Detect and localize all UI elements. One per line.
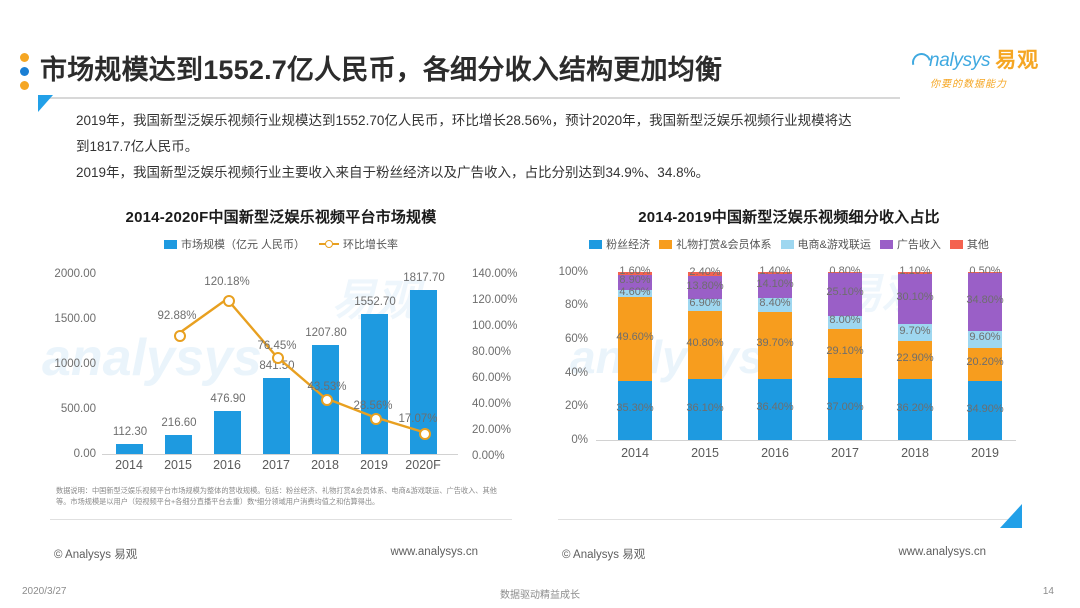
segment-ecommerce-2017: 8.00% bbox=[828, 316, 862, 329]
ry-tick-40: 40% bbox=[540, 367, 588, 379]
growth-rate-line bbox=[32, 260, 530, 474]
segment-label-advertising-2017: 25.10% bbox=[826, 286, 863, 298]
intro-line-1: 2019年，我国新型泛娱乐视频行业规模达到1552.70亿人民币，环比增长28.… bbox=[76, 108, 1006, 134]
rx-label-2018: 2018 bbox=[880, 446, 950, 460]
right-panel-copyright: © Analysys 易观 bbox=[562, 546, 645, 562]
segment-gifts-2017: 29.10% bbox=[828, 329, 862, 378]
segment-ecommerce-2016: 8.40% bbox=[758, 298, 792, 312]
logo-tagline: 你要的数据能力 bbox=[930, 75, 1062, 90]
segment-label-gifts-2014: 49.60% bbox=[616, 331, 653, 343]
segment-label-fan-2019: 34.90% bbox=[966, 403, 1003, 415]
intro-paragraph: 2019年，我国新型泛娱乐视频行业规模达到1552.70亿人民币，环比增长28.… bbox=[76, 108, 1006, 186]
right-chart-axis-line bbox=[596, 440, 1016, 441]
left-chart-legend: 市场规模（亿元 人民币） 环比增长率 bbox=[32, 236, 530, 252]
left-panel-website[interactable]: www.analysys.cn bbox=[390, 546, 478, 558]
segment-label-advertising-2019: 34.80% bbox=[966, 294, 1003, 306]
segment-gifts-2014: 49.60% bbox=[618, 297, 652, 380]
segment-label-gifts-2016: 39.70% bbox=[756, 337, 793, 349]
analysys-logo: nalysys 易观 你要的数据能力 bbox=[912, 50, 1062, 98]
segment-ecommerce-2014: 4.60% bbox=[618, 290, 652, 298]
line-label-2018: 43.53% bbox=[300, 381, 354, 393]
legend-item-gifts-membership[interactable]: 礼物打赏&会员体系 bbox=[659, 236, 771, 252]
rx-label-2019: 2019 bbox=[950, 446, 1020, 460]
stacked-bar-2019[interactable]: 0.50% 34.80% 9.60% 20.20% 34.90% bbox=[968, 272, 1002, 440]
segment-label-ecommerce-2016: 8.40% bbox=[759, 297, 790, 309]
intro-line-2: 到1817.7亿人民币。 bbox=[76, 134, 1006, 160]
x-label-2015: 2015 bbox=[153, 458, 203, 472]
line-point-2018[interactable] bbox=[321, 394, 333, 406]
legend-swatch-ecommerce-gaming bbox=[781, 240, 794, 249]
right-chart-title: 2014-2019中国新型泛娱乐视频细分收入占比 bbox=[540, 196, 1038, 227]
stacked-bar-2018[interactable]: 1.10% 30.10% 9.70% 22.90% 36.20% bbox=[898, 272, 932, 440]
watermark-right: analysys bbox=[570, 330, 764, 384]
legend-swatch-line bbox=[319, 243, 339, 245]
segment-ecommerce-2019: 9.60% bbox=[968, 331, 1002, 347]
right-panel-website[interactable]: www.analysys.cn bbox=[898, 546, 986, 558]
left-chart-title: 2014-2020F中国新型泛娱乐视频平台市场规模 bbox=[32, 196, 530, 227]
left-chart-panel: 2014-2020F中国新型泛娱乐视频平台市场规模 市场规模（亿元 人民币） 环… bbox=[32, 196, 530, 564]
segment-label-fan-2014: 35.30% bbox=[616, 402, 653, 414]
segment-fan-2019: 34.90% bbox=[968, 381, 1002, 440]
legend-label-fan-economy: 粉丝经济 bbox=[606, 236, 650, 252]
legend-swatch-other bbox=[950, 240, 963, 249]
dot-orange-top bbox=[20, 53, 29, 62]
legend-item-market-size[interactable]: 市场规模（亿元 人民币） bbox=[164, 236, 305, 252]
corner-triangle-decoration bbox=[1000, 504, 1022, 528]
legend-label-advertising: 广告收入 bbox=[897, 236, 941, 252]
segment-ecommerce-2015: 6.90% bbox=[688, 299, 722, 311]
segment-fan-2018: 36.20% bbox=[898, 379, 932, 440]
legend-item-other[interactable]: 其他 bbox=[950, 236, 989, 252]
segment-label-fan-2015: 36.10% bbox=[686, 402, 723, 414]
ry-tick-0: 0% bbox=[540, 434, 588, 446]
stacked-bar-2016[interactable]: 1.40% 14.10% 8.40% 39.70% 36.40% bbox=[758, 272, 792, 440]
x-label-2016: 2016 bbox=[202, 458, 252, 472]
segment-label-ecommerce-2017: 8.00% bbox=[829, 314, 860, 326]
ry-tick-60: 60% bbox=[540, 333, 588, 345]
dot-blue-middle bbox=[20, 67, 29, 76]
x-label-2017: 2017 bbox=[251, 458, 301, 472]
logo-chinese-text: 易观 bbox=[995, 50, 1039, 71]
segment-gifts-2015: 40.80% bbox=[688, 311, 722, 380]
page-title: 市场规模达到1552.7亿人民币，各细分收入结构更加均衡 bbox=[40, 48, 722, 87]
right-chart-panel: 2014-2019中国新型泛娱乐视频细分收入占比 粉丝经济 礼物打赏&会员体系 … bbox=[540, 196, 1038, 564]
line-label-2016: 120.18% bbox=[198, 276, 256, 288]
segment-advertising-2018: 30.10% bbox=[898, 274, 932, 325]
segment-fan-2017: 37.00% bbox=[828, 378, 862, 440]
segment-label-fan-2017: 37.00% bbox=[826, 401, 863, 413]
line-point-2016[interactable] bbox=[223, 295, 235, 307]
legend-label-growth-rate: 环比增长率 bbox=[343, 236, 398, 252]
rx-label-2014: 2014 bbox=[600, 446, 670, 460]
segment-label-ecommerce-2015: 6.90% bbox=[689, 297, 720, 309]
legend-item-growth-rate[interactable]: 环比增长率 bbox=[319, 236, 398, 252]
segment-label-advertising-2014: 8.90% bbox=[619, 274, 650, 286]
legend-label-ecommerce-gaming: 电商&游戏联运 bbox=[798, 236, 871, 252]
segment-ecommerce-2018: 9.70% bbox=[898, 324, 932, 340]
segment-label-gifts-2017: 29.10% bbox=[826, 345, 863, 357]
rx-label-2017: 2017 bbox=[810, 446, 880, 460]
segment-fan-2015: 36.10% bbox=[688, 379, 722, 440]
segment-gifts-2018: 22.90% bbox=[898, 341, 932, 380]
dot-orange-bottom bbox=[20, 81, 29, 90]
stacked-bar-2015[interactable]: 2.40% 13.80% 6.90% 40.80% 36.10% bbox=[688, 272, 722, 440]
segment-label-gifts-2015: 40.80% bbox=[686, 337, 723, 349]
segment-advertising-2019: 34.80% bbox=[968, 273, 1002, 332]
x-label-2019: 2019 bbox=[349, 458, 399, 472]
segment-gifts-2019: 20.20% bbox=[968, 348, 1002, 382]
stacked-bar-2014[interactable]: 1.60% 8.90% 4.60% 49.60% 35.30% bbox=[618, 272, 652, 440]
left-panel-copyright: © Analysys 易观 bbox=[54, 546, 137, 562]
ry-tick-20: 20% bbox=[540, 400, 588, 412]
stacked-bar-2017[interactable]: 0.80% 25.10% 8.00% 29.10% 37.00% bbox=[828, 272, 862, 440]
ry-tick-100: 100% bbox=[540, 266, 588, 278]
line-label-2015: 92.88% bbox=[149, 310, 205, 322]
footer-page-number: 14 bbox=[1043, 586, 1054, 597]
logo-english-text: nalysys bbox=[929, 50, 990, 71]
segment-label-advertising-2015: 13.80% bbox=[686, 280, 723, 292]
segment-label-fan-2018: 36.20% bbox=[896, 402, 933, 414]
line-point-2015[interactable] bbox=[174, 330, 186, 342]
segment-advertising-2017: 25.10% bbox=[828, 273, 862, 315]
x-label-2018: 2018 bbox=[300, 458, 350, 472]
left-chart-plot: analysys 易观 2000.00 1500.00 1000.00 500.… bbox=[32, 260, 530, 474]
rx-label-2016: 2016 bbox=[740, 446, 810, 460]
left-panel-divider bbox=[50, 519, 512, 520]
x-label-2014: 2014 bbox=[104, 458, 154, 472]
segment-label-advertising-2018: 30.10% bbox=[896, 291, 933, 303]
segment-label-ecommerce-2018: 9.70% bbox=[899, 325, 930, 337]
segment-label-fan-2016: 36.40% bbox=[756, 401, 793, 413]
segment-label-advertising-2016: 14.10% bbox=[756, 278, 793, 290]
slide-footer: 2020/3/27 数据驱动精益成长 14 bbox=[0, 578, 1080, 608]
slide: 市场规模达到1552.7亿人民币，各细分收入结构更加均衡 nalysys 易观 … bbox=[0, 0, 1080, 608]
legend-label-gifts-membership: 礼物打赏&会员体系 bbox=[676, 236, 771, 252]
x-label-2020F: 2020F bbox=[398, 458, 448, 472]
line-label-2017: 76.45% bbox=[248, 340, 306, 352]
right-panel-divider bbox=[558, 519, 1020, 520]
slide-header: 市场规模达到1552.7亿人民币，各细分收入结构更加均衡 nalysys 易观 … bbox=[0, 22, 1080, 84]
legend-label-market-size: 市场规模（亿元 人民币） bbox=[181, 236, 305, 252]
intro-triangle-marker bbox=[38, 95, 53, 112]
segment-label-ecommerce-2019: 9.60% bbox=[969, 331, 1000, 343]
segment-label-gifts-2019: 20.20% bbox=[966, 356, 1003, 368]
line-point-2017[interactable] bbox=[272, 352, 284, 364]
segment-fan-2014: 35.30% bbox=[618, 381, 652, 440]
legend-swatch-advertising bbox=[880, 240, 893, 249]
segment-label-gifts-2018: 22.90% bbox=[896, 352, 933, 364]
right-chart-plot: analysys 易观 100% 80% 60% 40% 20% 0% 1.60… bbox=[540, 260, 1038, 474]
segment-advertising-2016: 14.10% bbox=[758, 274, 792, 298]
line-label-2019: 28.56% bbox=[345, 400, 401, 412]
line-point-2020F[interactable] bbox=[419, 428, 431, 440]
right-chart-legend: 粉丝经济 礼物打赏&会员体系 电商&游戏联运 广告收入 其他 bbox=[540, 236, 1038, 252]
header-divider bbox=[40, 97, 900, 99]
segment-gifts-2016: 39.70% bbox=[758, 312, 792, 379]
legend-swatch-bar bbox=[164, 240, 177, 249]
segment-fan-2016: 36.40% bbox=[758, 379, 792, 440]
line-point-2019[interactable] bbox=[370, 413, 382, 425]
legend-swatch-fan-economy bbox=[589, 240, 602, 249]
segment-label-ecommerce-2014: 4.60% bbox=[619, 286, 650, 298]
footer-tagline: 数据驱动精益成长 bbox=[0, 586, 1080, 601]
header-dots-decoration bbox=[20, 53, 29, 95]
legend-item-advertising[interactable]: 广告收入 bbox=[880, 236, 941, 252]
ry-tick-80: 80% bbox=[540, 299, 588, 311]
legend-label-other: 其他 bbox=[967, 236, 989, 252]
legend-item-ecommerce-gaming[interactable]: 电商&游戏联运 bbox=[781, 236, 871, 252]
line-label-2020F: 17.07% bbox=[390, 413, 446, 425]
legend-item-fan-economy[interactable]: 粉丝经济 bbox=[589, 236, 650, 252]
rx-label-2015: 2015 bbox=[670, 446, 740, 460]
segment-advertising-2015: 13.80% bbox=[688, 276, 722, 299]
intro-line-3: 2019年，我国新型泛娱乐视频行业主要收入来自于粉丝经济以及广告收入，占比分别达… bbox=[76, 160, 1006, 186]
legend-swatch-gifts-membership bbox=[659, 240, 672, 249]
left-chart-note: 数据说明：中国新型泛娱乐视频平台市场规模为整体的营收规模。包括：粉丝经济、礼物打… bbox=[56, 486, 508, 507]
